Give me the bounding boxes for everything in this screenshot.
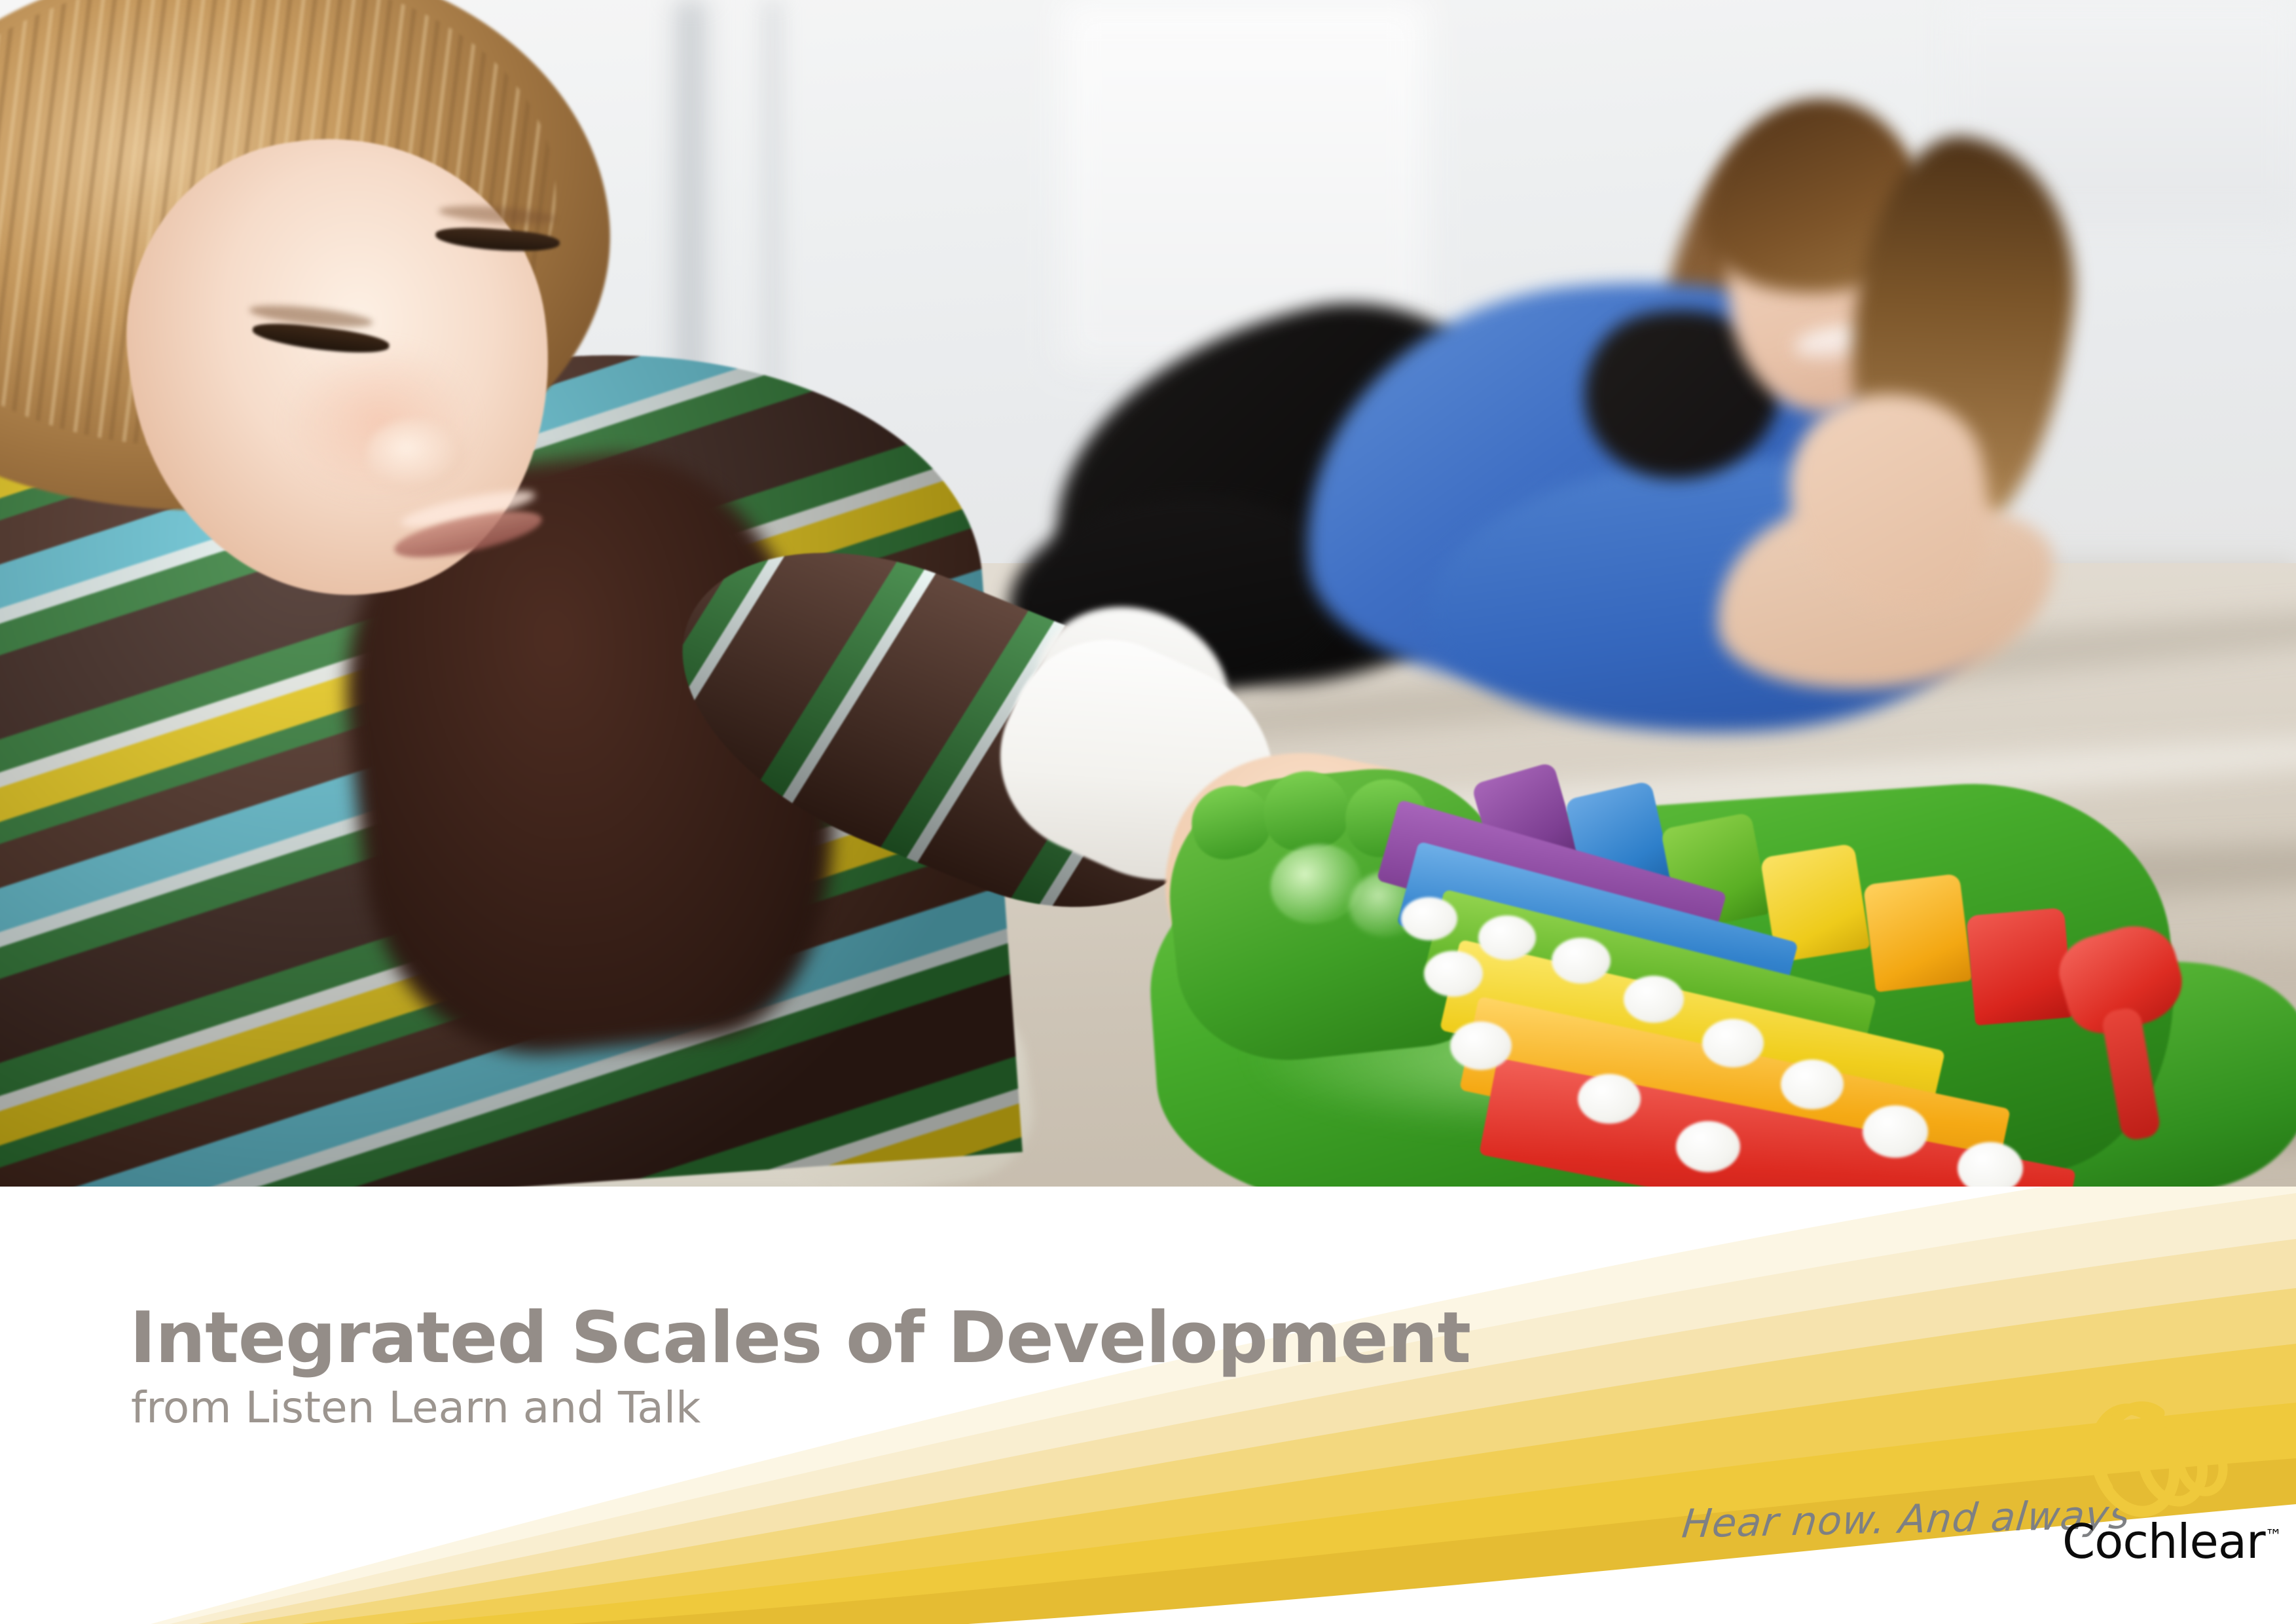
toy-dot [1401,897,1457,940]
toy-dot [1863,1105,1928,1158]
toy-dot [1624,976,1684,1023]
cochlear-logo[interactable]: Cochlear™ [2062,1401,2272,1591]
toy-dot [1552,938,1611,984]
cover-page: Integrated Scales of Development from Li… [0,0,2296,1624]
toy-dot [1450,1022,1512,1070]
cochlear-wordmark-text: Cochlear [2062,1514,2265,1569]
toy-dot [1424,951,1483,997]
toy-dot [1676,1121,1740,1172]
trademark-symbol: ™ [2265,1526,2282,1546]
page-subtitle: from Listen Learn and Talk [131,1384,1470,1432]
brand-tagline: Hear now. And always [1680,1494,2039,1547]
toy-key-top-red [1966,908,2073,1025]
cover-photo [0,0,2296,1187]
cover-footer: Integrated Scales of Development from Li… [0,1187,2296,1624]
brand-lockup: Hear now. And always Cochlear™ [1683,1409,2272,1606]
toy-dot [1478,915,1536,960]
toy-dot [1578,1074,1641,1124]
cochlear-wordmark: Cochlear™ [2062,1514,2282,1569]
toy-key-top-orange [1863,874,1972,993]
cochlear-rings-logo-icon [2086,1401,2236,1519]
toy-dot [1781,1060,1844,1109]
toy-dot [1702,1019,1764,1067]
page-title: Integrated Scales of Development [130,1302,1470,1375]
title-block: Integrated Scales of Development from Li… [130,1302,1470,1432]
